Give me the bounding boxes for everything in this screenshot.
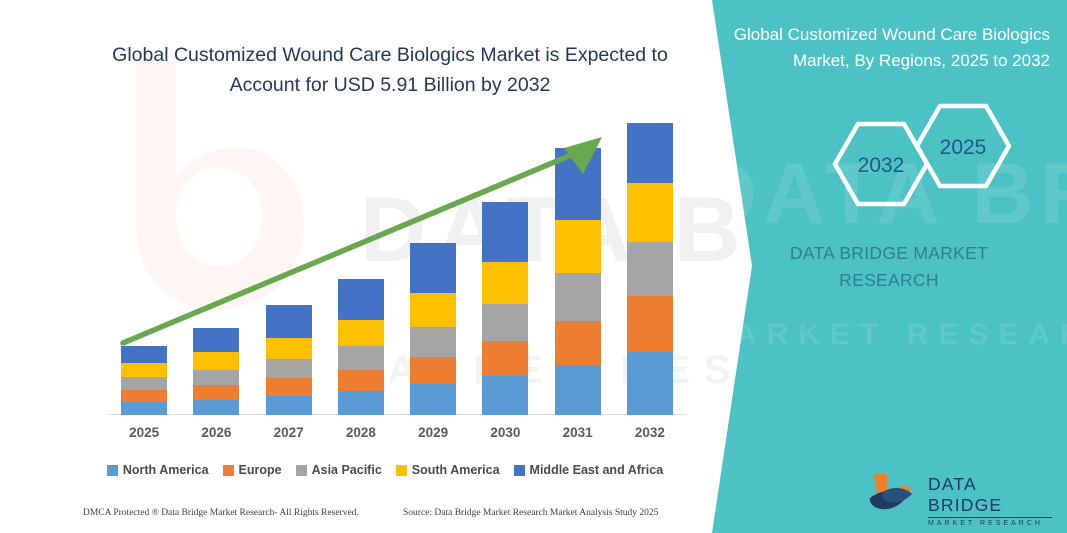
hexagon-2025-label: 2025 (940, 136, 987, 159)
panel-brand-text: DATA BRIDGE MARKET RESEARCH (728, 240, 1050, 294)
legend-swatch (107, 465, 118, 476)
bar-segment (193, 352, 239, 370)
x-axis-label: 2026 (186, 425, 246, 440)
legend-label: North America (123, 463, 209, 477)
x-axis-label: 2032 (620, 425, 680, 440)
bar-column (627, 123, 673, 415)
bar-segment (627, 296, 673, 352)
panel-watermark-market-research: MARKET RESEARCH (700, 318, 1067, 352)
x-axis-label: 2028 (331, 425, 391, 440)
bar-column (193, 328, 239, 415)
bar-segment (482, 202, 528, 263)
panel-brand-line1: DATA BRIDGE MARKET (728, 240, 1050, 267)
bar-segment (338, 279, 384, 320)
legend-swatch (396, 465, 407, 476)
bar-column (338, 279, 384, 415)
bar-column (410, 243, 456, 415)
bar-segment (410, 384, 456, 415)
bar-segment (410, 327, 456, 357)
page-title: Global Customized Wound Care Biologics M… (90, 40, 690, 100)
bar-column (266, 305, 312, 415)
legend-item[interactable]: North America (107, 463, 209, 477)
data-bridge-logo: DATA BRIDGE MARKET RESEARCH (868, 470, 1053, 520)
legend-item[interactable]: Europe (223, 463, 282, 477)
bar-segment (627, 123, 673, 183)
bar-segment (410, 243, 456, 293)
logo-text: DATA BRIDGE MARKET RESEARCH (928, 474, 1053, 527)
bar-segment (627, 242, 673, 296)
legend-item[interactable]: Asia Pacific (296, 463, 382, 477)
bar-segment (338, 391, 384, 415)
bar-segment (121, 346, 167, 363)
logo-sub-text: MARKET RESEARCH (928, 520, 1053, 527)
bar-segment (266, 359, 312, 378)
bar-segment (482, 262, 528, 304)
logo-mark-icon (868, 470, 924, 518)
bar-segment (193, 328, 239, 352)
x-axis-label: 2027 (259, 425, 319, 440)
bar-segment (410, 357, 456, 384)
bar-segment (338, 370, 384, 391)
bar-column (482, 202, 528, 415)
bars-container (108, 120, 686, 415)
footer-source: Source: Data Bridge Market Research Mark… (403, 508, 658, 518)
bar-segment (266, 396, 312, 415)
chart-x-axis-labels: 20252026202720282029203020312032 (80, 425, 690, 445)
x-axis-label: 2025 (114, 425, 174, 440)
x-axis-label: 2029 (403, 425, 463, 440)
bar-segment (482, 376, 528, 415)
panel-brand-line2: RESEARCH (728, 267, 1050, 294)
bar-segment (555, 148, 601, 220)
stacked-bar-chart (80, 120, 690, 420)
bar-segment (266, 338, 312, 359)
bar-segment (555, 273, 601, 321)
legend-swatch (223, 465, 234, 476)
x-axis-label: 2031 (548, 425, 608, 440)
legend-item[interactable]: Middle East and Africa (514, 463, 664, 477)
legend-label: Europe (239, 463, 282, 477)
bar-segment (338, 320, 384, 346)
hexagon-2032-label: 2032 (858, 154, 905, 177)
year-hexagon-badges: 2025 2032 (800, 100, 1050, 210)
bar-segment (627, 183, 673, 243)
legend-item[interactable]: South America (396, 463, 500, 477)
bar-segment (193, 370, 239, 385)
legend-swatch (296, 465, 307, 476)
infographic-canvas: DATA BRIDGE MARKET RESEARCH Global Custo… (0, 0, 1067, 533)
chart-legend: North AmericaEuropeAsia PacificSouth Ame… (80, 459, 690, 481)
legend-label: Middle East and Africa (530, 463, 664, 477)
bar-column (121, 346, 167, 415)
bar-segment (555, 220, 601, 274)
bar-segment (266, 378, 312, 396)
bar-segment (482, 341, 528, 376)
bar-segment (121, 377, 167, 390)
bar-segment (121, 390, 167, 402)
panel-title: Global Customized Wound Care Biologics M… (728, 22, 1050, 74)
bar-segment (266, 305, 312, 337)
bar-segment (410, 293, 456, 326)
bar-segment (193, 400, 239, 415)
footer-copyright: DMCA Protected ® Data Bridge Market Rese… (83, 508, 359, 518)
bar-segment (193, 385, 239, 399)
bar-segment (121, 402, 167, 415)
legend-label: Asia Pacific (312, 463, 382, 477)
bar-segment (482, 304, 528, 341)
logo-divider (928, 517, 1052, 518)
logo-main-text: DATA BRIDGE (928, 474, 1053, 516)
footer: DMCA Protected ® Data Bridge Market Rese… (0, 508, 700, 532)
bar-segment (338, 346, 384, 370)
x-axis-label: 2030 (475, 425, 535, 440)
legend-label: South America (412, 463, 500, 477)
bar-segment (555, 365, 601, 415)
bar-segment (555, 321, 601, 365)
right-teal-panel: DATA BRIDGE MARKET RESEARCH Global Custo… (700, 0, 1067, 533)
bar-segment (121, 363, 167, 377)
bar-segment (627, 352, 673, 415)
bar-column (555, 148, 601, 415)
legend-swatch (514, 465, 525, 476)
